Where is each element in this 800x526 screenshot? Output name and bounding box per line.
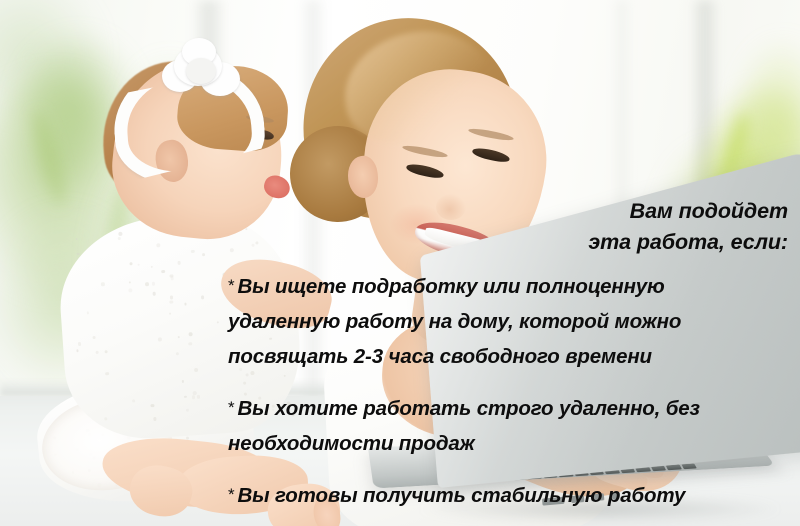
bullet-list: *Вы ищете подработку или полноценную уда… <box>228 268 794 526</box>
headline-line-2: эта работа, если: <box>268 227 788 258</box>
bullet-line: необходимости продаж <box>228 426 794 461</box>
bullet-line: удаленную работу на дому, которой можно <box>228 304 794 339</box>
headline: Вам подойдет эта работа, если: <box>268 196 788 257</box>
headline-line-1: Вам подойдет <box>268 196 788 227</box>
bullet-text: Вы готовы получить стабильную работу <box>237 484 685 507</box>
bullet-line: *Вы готовы получить стабильную работу <box>228 477 794 513</box>
bullet-line: посвящать 2-3 часа свободного времени <box>228 339 794 374</box>
asterisk-icon: * <box>228 398 234 417</box>
bullet-line: *Вы хотите работать строго удаленно, без <box>228 390 794 426</box>
asterisk-icon: * <box>228 276 234 295</box>
bullet-line: *Вы ищете подработку или полноценную <box>228 268 794 304</box>
bullet-text: Вы хотите работать строго удаленно, без <box>237 397 699 420</box>
asterisk-icon: * <box>228 485 234 504</box>
job-ad-banner: Вам подойдет эта работа, если: *Вы ищете… <box>0 0 800 526</box>
bullet-item: *Вы хотите работать строго удаленно, без… <box>228 390 794 461</box>
bullet-item: *Вы ищете подработку или полноценную уда… <box>228 268 794 374</box>
bullet-text: Вы ищете подработку или полноценную <box>237 275 664 298</box>
bullet-item: *Вы готовы получить стабильную работу <box>228 477 794 513</box>
text-overlay: Вам подойдет эта работа, если: *Вы ищете… <box>0 0 800 526</box>
